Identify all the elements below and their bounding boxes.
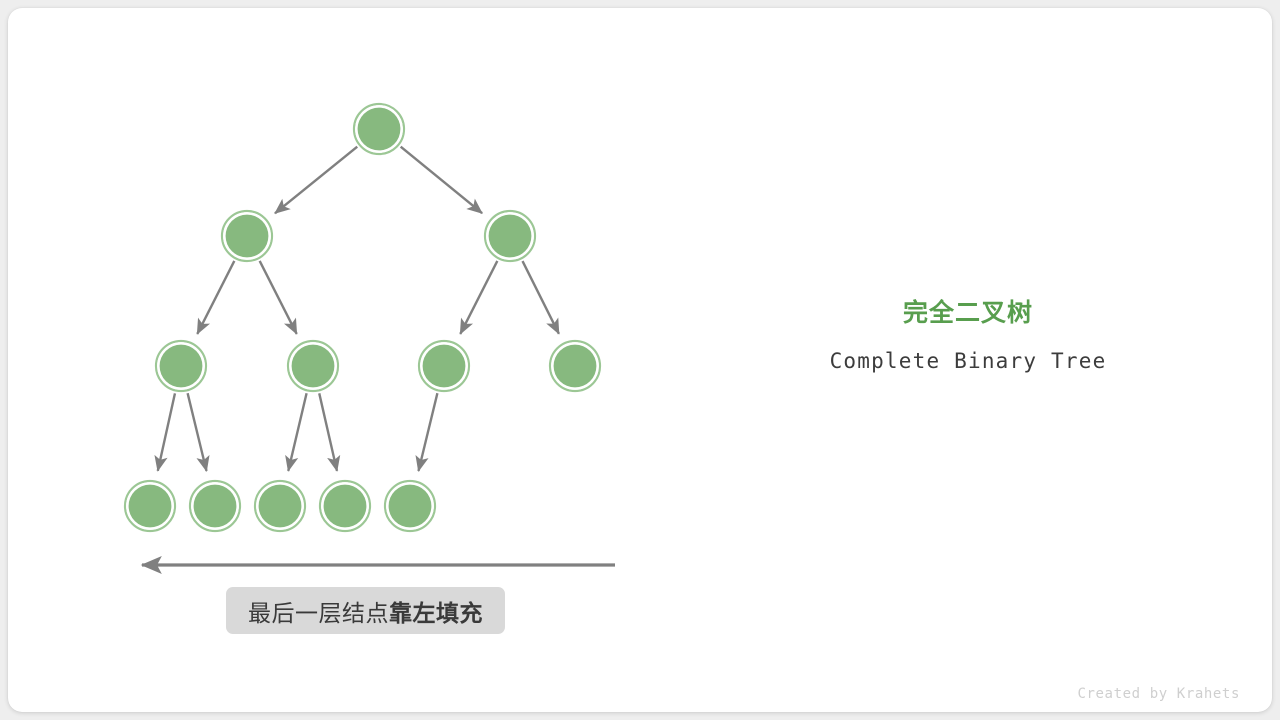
tree-edge [188, 393, 207, 471]
tree-node-core [324, 485, 367, 528]
tree-node [255, 481, 305, 531]
tree-node [156, 341, 206, 391]
tree-node [222, 211, 272, 261]
tree-edge [197, 261, 234, 334]
bottom-annotation-label: 最后一层结点靠左填充 [226, 587, 505, 634]
tree-node-core [226, 215, 269, 258]
tree-node [320, 481, 370, 531]
bottom-annotation-text-strong: 靠左填充 [389, 594, 483, 628]
tree-node-core [389, 485, 432, 528]
title-block: 完全二叉树 Complete Binary Tree [768, 296, 1168, 373]
tree-node-layer [125, 104, 600, 531]
diagram-stage: 完全二叉树 Complete Binary Tree 最后一层结点靠左填充 Cr… [0, 0, 1280, 720]
tree-node-core [292, 345, 335, 388]
footer-credit: Created by Krahets [1077, 686, 1240, 702]
tree-node [385, 481, 435, 531]
tree-node-core [489, 215, 532, 258]
tree-edge [523, 261, 559, 334]
tree-edge [260, 261, 297, 334]
tree-node-core [160, 345, 203, 388]
tree-edge [401, 147, 482, 214]
tree-edge [460, 261, 497, 334]
tree-node-core [194, 485, 237, 528]
tree-edge [288, 393, 306, 471]
tree-node-core [259, 485, 302, 528]
bottom-annotation-text-normal: 最后一层结点 [248, 594, 389, 628]
tree-node [485, 211, 535, 261]
tree-node-core [554, 345, 597, 388]
page-title-cn: 完全二叉树 [768, 296, 1168, 330]
tree-edge [418, 393, 437, 471]
tree-node [419, 341, 469, 391]
tree-node [190, 481, 240, 531]
tree-edge [275, 147, 357, 214]
page-title-en: Complete Binary Tree [768, 349, 1168, 373]
tree-edge [158, 393, 175, 471]
screenshot-root: 完全二叉树 Complete Binary Tree 最后一层结点靠左填充 Cr… [0, 0, 1280, 720]
tree-edge [319, 393, 337, 471]
tree-node-core [129, 485, 172, 528]
tree-node [550, 341, 600, 391]
tree-node [125, 481, 175, 531]
tree-node-core [358, 108, 401, 151]
tree-edge-layer [158, 147, 559, 471]
tree-node-core [423, 345, 466, 388]
tree-node [354, 104, 404, 154]
tree-node [288, 341, 338, 391]
